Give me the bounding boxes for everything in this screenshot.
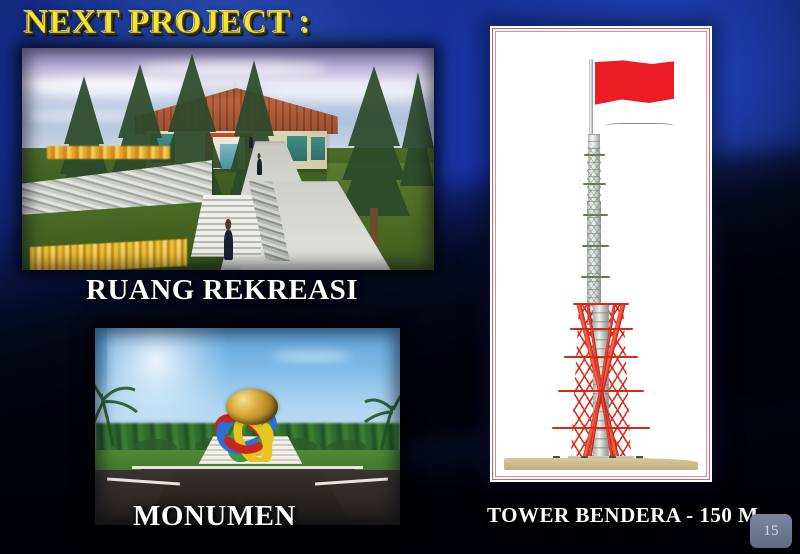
flower-bed-mid (47, 146, 171, 159)
mast-band (582, 245, 609, 247)
tower-drawing-canvas (495, 31, 707, 477)
page-title: NEXT PROJECT : (24, 4, 311, 42)
recreation-render-image (22, 48, 434, 270)
lattice-band (552, 427, 650, 429)
ground-strip (504, 458, 697, 470)
lattice-band (573, 303, 628, 305)
caption-tower: TOWER BENDERA - 150 M (487, 503, 758, 528)
red-lattice-base (538, 303, 664, 458)
person-figure-far (249, 137, 253, 148)
lattice-band (564, 356, 637, 358)
flag-wire (605, 123, 674, 129)
mast-band (583, 183, 606, 185)
indonesian-flag (595, 60, 675, 104)
lattice-band (558, 390, 644, 392)
monument-render-image (95, 328, 400, 525)
person-figure-mid (257, 159, 262, 175)
monument-rings-front (174, 367, 320, 462)
person-figure-front (224, 230, 233, 260)
page-number-badge[interactable]: 15 (750, 514, 792, 548)
mast-band (583, 214, 608, 216)
presentation-slide: NEXT PROJECT : (0, 0, 800, 554)
mast-band (581, 276, 610, 278)
mast-band (584, 154, 605, 156)
caption-monument: MONUMEN (133, 500, 296, 533)
mast-bracing (587, 147, 602, 325)
caption-recreation: RUANG REKREASI (86, 274, 358, 307)
tower-drawing-panel (490, 26, 712, 482)
road-marking (132, 466, 364, 469)
lattice-band (570, 328, 633, 330)
